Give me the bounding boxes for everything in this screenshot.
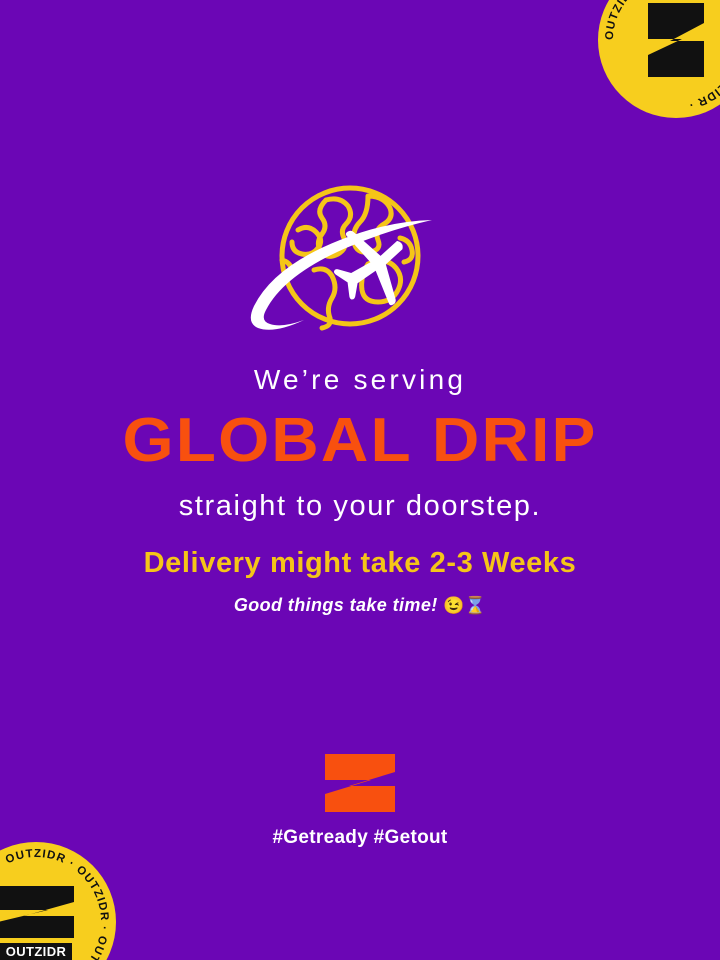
promo-poster: OUTZIDR · OUTZIDR · OUTZIDR · OUTZIDR ·	[0, 0, 720, 960]
headline-kicker: We’re serving	[0, 366, 720, 394]
headline-block: We’re serving GLOBAL DRIP straight to yo…	[0, 366, 720, 521]
brand-badge-top-right: OUTZIDR · OUTZIDR · OUTZIDR · OUTZIDR ·	[598, 0, 720, 118]
delivery-note: Good things take time! 😉⌛	[0, 596, 720, 614]
headline-subline: straight to your doorstep.	[0, 492, 720, 521]
brand-badge-bottom-left: OUTZIDR · OUTZIDR · OUTZIDR · OUTZIDR · …	[0, 842, 116, 960]
badge-core-top-right	[598, 0, 720, 118]
delivery-notice-block: Delivery might take 2-3 Weeks Good thing…	[0, 549, 720, 614]
hourglass-emoji: ⌛	[465, 596, 487, 615]
globe-with-airplane-icon	[240, 178, 480, 343]
z-logo-mark-icon	[640, 1, 712, 79]
headline-main: GLOBAL DRIP	[0, 410, 720, 472]
footer-brand-block: #Getready #Getout	[0, 752, 720, 847]
delivery-note-text: Good things take time!	[234, 595, 438, 615]
badge-core-bottom-left: OUTZIDR	[0, 842, 116, 960]
delivery-headline: Delivery might take 2-3 Weeks	[0, 549, 720, 578]
z-logo-mark-icon	[0, 884, 78, 940]
z-logo-mark-icon	[321, 752, 399, 814]
winking-face-emoji: 😉	[443, 596, 465, 615]
badge-wordmark: OUTZIDR	[0, 943, 72, 960]
hashtags-label: #Getready #Getout	[272, 828, 447, 847]
